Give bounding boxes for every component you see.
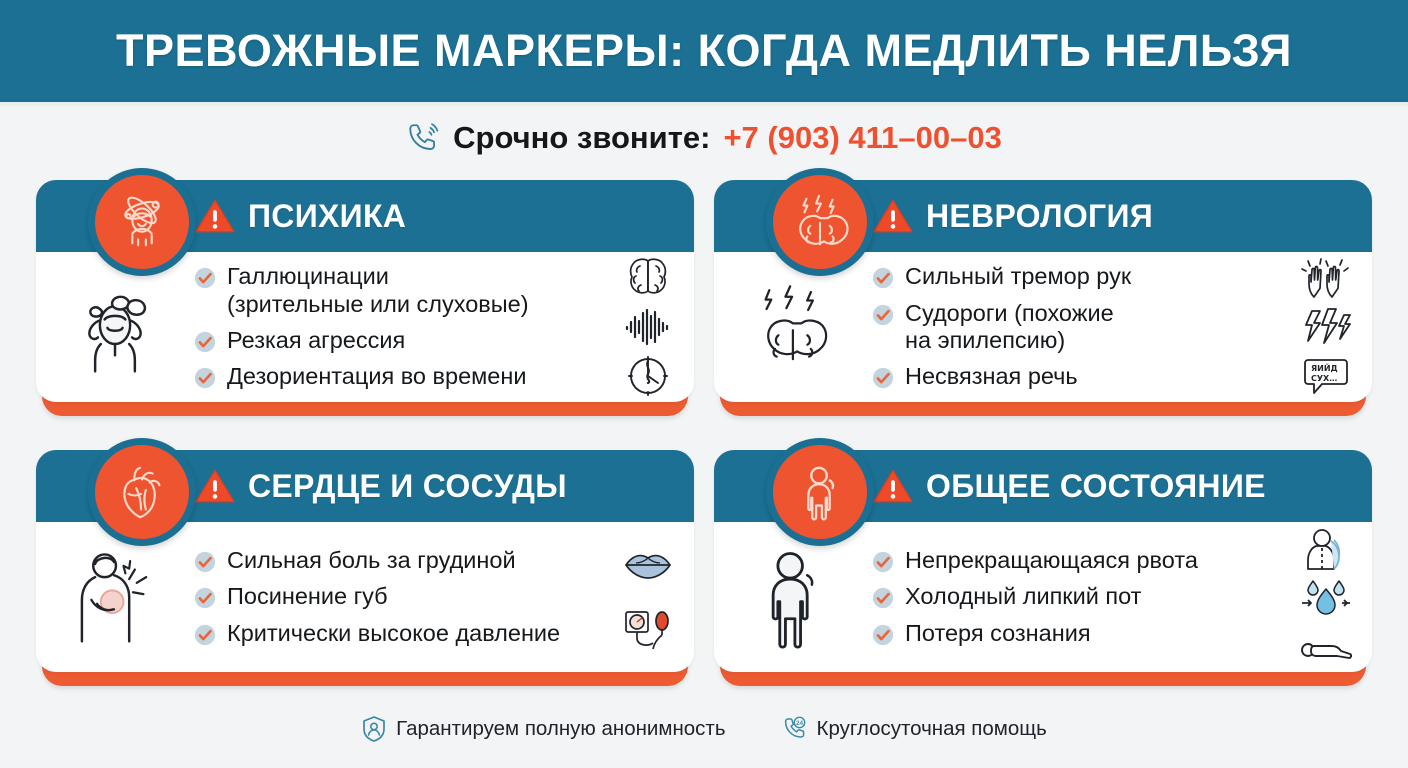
card-title: НЕВРОЛОГИЯ [926,198,1153,235]
check-circle-icon [194,367,216,389]
footer-bar: Гарантируем полную анонимность 24 Кругло… [0,706,1408,752]
check-circle-icon [194,587,216,609]
phone-number[interactable]: +7 (903) 411–00–03 [723,120,1001,156]
list-item: Потеря сознания [872,620,1274,647]
broken-clock-icon [622,354,674,398]
check-circle-icon [194,267,216,289]
list-item-label: Галлюцинации (зрительные или слуховые) [227,263,529,318]
check-circle-icon [194,551,216,573]
phone-callout: Срочно звоните: +7 (903) 411–00–03 [0,112,1408,164]
brain-top-icon [622,257,674,301]
brain-lightning-icon [789,191,851,253]
warning-triangle-icon [194,467,236,505]
list-item-label: Потеря сознания [905,620,1091,647]
svg-text:ЯИЙД: ЯИЙД [1311,362,1338,373]
list-item: Галлюцинации (зрительные или слуховые) [194,263,596,318]
phone-label: Срочно звоните: [453,120,710,156]
phone-24h-icon: 24 [782,715,808,743]
card-side-icons [602,252,694,402]
banner-divider [0,102,1408,106]
footer-item-label: Круглосуточная помощь [817,717,1047,741]
card-heart-vessels: СЕРДЦЕ И СОСУДЫ [36,450,694,686]
card-illustration [714,522,872,672]
check-circle-icon [872,587,894,609]
blood-pressure-monitor-icon [622,607,674,651]
symptom-list: Сильная боль за грудиной Посинение губ [194,547,602,647]
card-side-icons [602,522,694,672]
card-general-condition: ОБЩЕЕ СОСТОЯНИЕ [714,450,1372,686]
list-item-label: Холодный липкий пот [905,583,1141,610]
check-circle-icon [194,624,216,646]
card-illustration [714,252,872,402]
warning-triangle-icon [194,197,236,235]
list-item: Непрекращающаяся рвота [872,547,1274,574]
check-circle-icon [872,267,894,289]
vomiting-person-icon [1300,527,1352,571]
card-title: СЕРДЦЕ И СОСУДЫ [248,468,567,505]
list-item: Сильный тремор рук [872,263,1274,290]
shield-person-icon [361,715,387,743]
list-item-label: Непрекращающаяся рвота [905,547,1198,574]
sweat-drops-icon [1300,575,1352,619]
list-item-label: Критически высокое давление [227,620,560,647]
card-title: ПСИХИКА [248,198,406,235]
footer-item-24h: 24 Круглосуточная помощь [782,715,1047,743]
list-item: Холодный липкий пот [872,583,1274,610]
list-item-label: Сильный тремор рук [905,263,1131,290]
lying-person-icon [1300,624,1352,668]
list-item-label: Резкая агрессия [227,327,405,354]
footer-item-label: Гарантируем полную анонимность [396,717,725,741]
card-badge [766,168,874,276]
heart-anatomy-icon [111,461,173,523]
list-item: Дезориентация во времени [194,363,596,390]
svg-text:СУХ…: СУХ… [1311,374,1337,383]
symptom-list: Галлюцинации (зрительные или слуховые) Р… [194,263,602,391]
list-item-label: Несвязная речь [905,363,1078,390]
blue-lips-icon [622,543,674,587]
list-item: Сильная боль за грудиной [194,547,596,574]
check-circle-icon [872,624,894,646]
card-illustration [36,522,194,672]
card-badge [766,438,874,546]
shaking-hands-icon [1300,257,1352,301]
list-item-label: Дезориентация во времени [227,363,526,390]
list-item: Посинение губ [194,583,596,610]
list-item: Критически высокое давление [194,620,596,647]
list-item: Несвязная речь [872,363,1274,390]
infographic-page: ТРЕВОЖНЫЕ МАРКЕРЫ: КОГДА МЕДЛИТЬ НЕЛЬЗЯ … [0,0,1408,768]
card-psyche: ПСИХИКА [36,180,694,416]
sound-wave-icon [622,305,674,349]
card-badge [88,168,196,276]
standing-person-icon [789,461,851,523]
person-holding-head-icon [63,275,167,379]
card-neurology: НЕВРОЛОГИЯ [714,180,1372,416]
standing-person-outline-icon [741,545,845,649]
symptom-list: Непрекращающаяся рвота Холодный липкий п… [872,547,1280,647]
warning-triangle-icon [872,467,914,505]
lightning-bolts-icon [1300,305,1352,349]
check-circle-icon [194,331,216,353]
card-side-icons [1280,522,1372,672]
list-item: Резкая агрессия [194,327,596,354]
card-illustration [36,252,194,402]
phone-call-icon [406,121,440,155]
check-circle-icon [872,304,894,326]
confused-head-icon [111,191,173,253]
card-badge [88,438,196,546]
symptom-list: Сильный тремор рук Судороги (похожие на … [872,263,1280,391]
warning-triangle-icon [872,197,914,235]
chest-pain-person-icon [63,545,167,649]
garbled-speech-bubble-icon: ЯИЙД СУХ… [1300,354,1352,398]
list-item: Судороги (похожие на эпилепсию) [872,300,1274,355]
svg-text:24: 24 [795,720,803,727]
header-banner: ТРЕВОЖНЫЕ МАРКЕРЫ: КОГДА МЕДЛИТЬ НЕЛЬЗЯ [0,0,1408,102]
check-circle-icon [872,367,894,389]
list-item-label: Сильная боль за грудиной [227,547,516,574]
card-side-icons: ЯИЙД СУХ… [1280,252,1372,402]
footer-item-anonymity: Гарантируем полную анонимность [361,715,725,743]
brain-lightning-outline-icon [741,275,845,379]
page-title: ТРЕВОЖНЫЕ МАРКЕРЫ: КОГДА МЕДЛИТЬ НЕЛЬЗЯ [116,25,1292,77]
check-circle-icon [872,551,894,573]
list-item-label: Судороги (похожие на эпилепсию) [905,300,1114,355]
list-item-label: Посинение губ [227,583,388,610]
cards-grid: ПСИХИКА [36,180,1372,703]
card-title: ОБЩЕЕ СОСТОЯНИЕ [926,468,1266,505]
